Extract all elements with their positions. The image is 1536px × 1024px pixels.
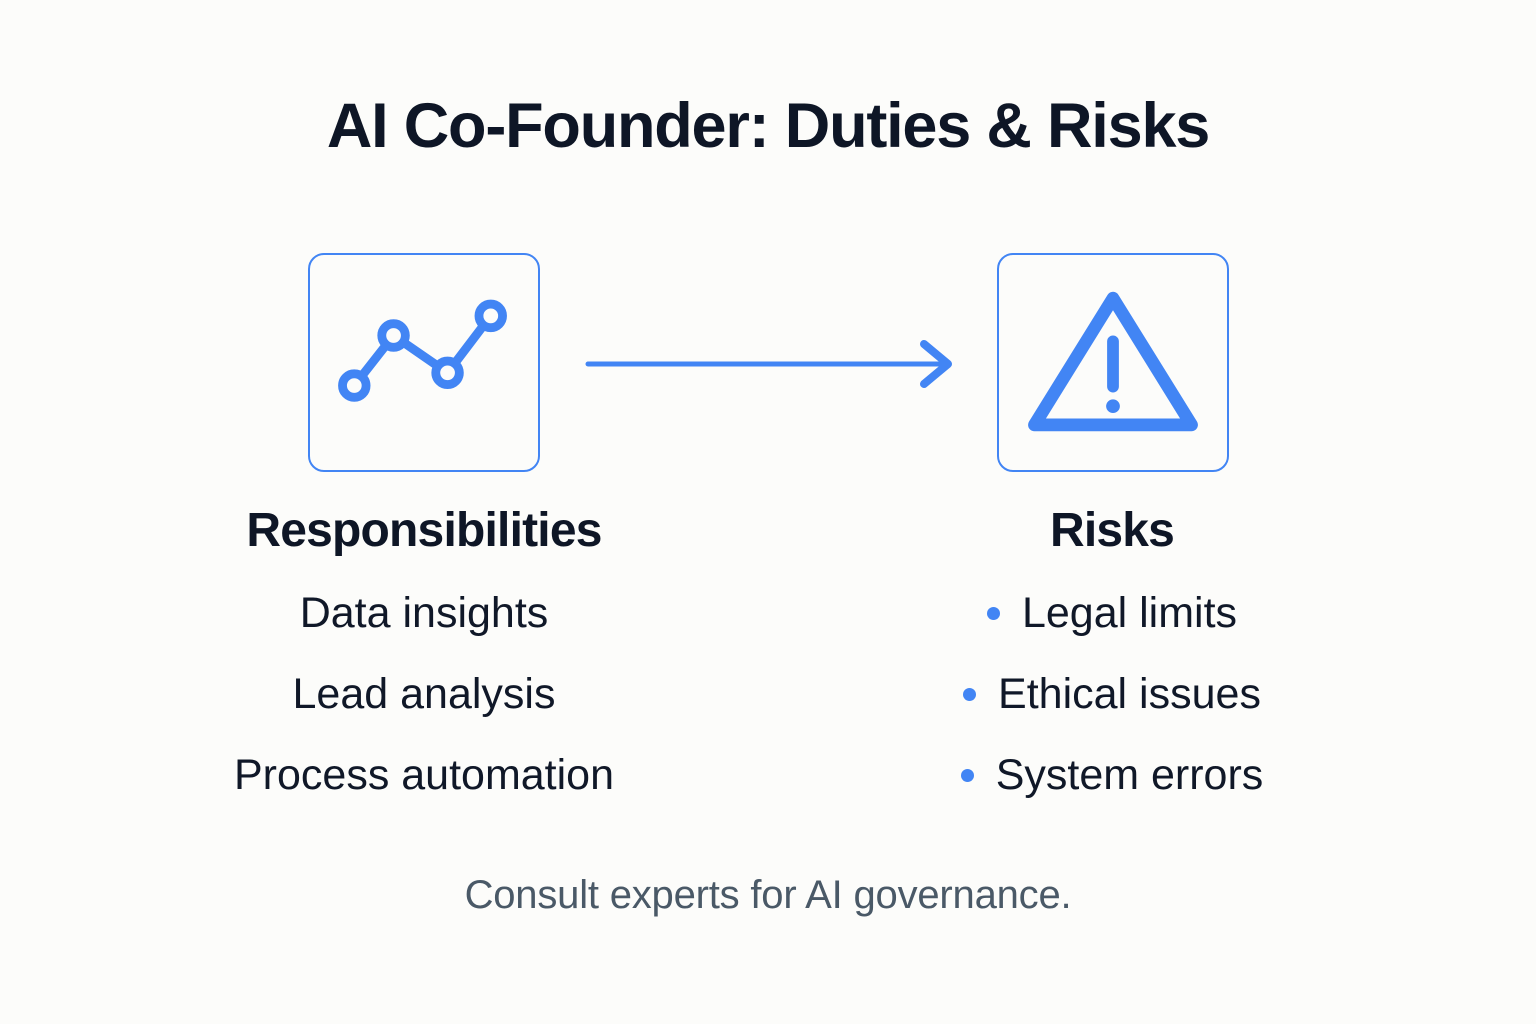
responsibilities-list: Data insights Lead analysis Process auto…: [124, 592, 724, 797]
column-responsibilities: Responsibilities Data insights Lead anal…: [124, 505, 724, 797]
list-item: Legal limits: [812, 592, 1412, 635]
heading-responsibilities: Responsibilities: [124, 505, 724, 558]
bullet-dot-icon: [987, 607, 1000, 620]
list-item: Data insights: [124, 592, 724, 635]
list-item-label: System errors: [996, 754, 1264, 797]
bullet-dot-icon: [961, 769, 974, 782]
column-risks: Risks Legal limits Ethical issues System…: [812, 505, 1412, 797]
list-item-label: Data insights: [300, 589, 549, 637]
page-title: AI Co-Founder: Duties & Risks: [0, 92, 1536, 161]
bullet-dot-icon: [963, 688, 976, 701]
risks-list: Legal limits Ethical issues System error…: [812, 592, 1412, 797]
list-item-label: Lead analysis: [293, 670, 556, 718]
list-item-label: Process automation: [234, 751, 614, 799]
risks-icon-card: [997, 253, 1229, 472]
responsibilities-icon-card: [308, 253, 540, 472]
list-item-label: Ethical issues: [998, 673, 1261, 716]
list-item: System errors: [812, 754, 1412, 797]
warning-triangle-icon: [999, 255, 1227, 470]
list-item: Lead analysis: [124, 673, 724, 716]
arrow-right-icon: [580, 338, 960, 390]
line-chart-icon: [310, 255, 538, 470]
footer-note: Consult experts for AI governance.: [0, 873, 1536, 918]
infographic-slide: AI Co-Founder: Duties & Risks: [0, 0, 1536, 1024]
list-item: Ethical issues: [812, 673, 1412, 716]
list-item: Process automation: [124, 754, 724, 797]
heading-risks: Risks: [812, 505, 1412, 558]
list-item-label: Legal limits: [1022, 592, 1237, 635]
